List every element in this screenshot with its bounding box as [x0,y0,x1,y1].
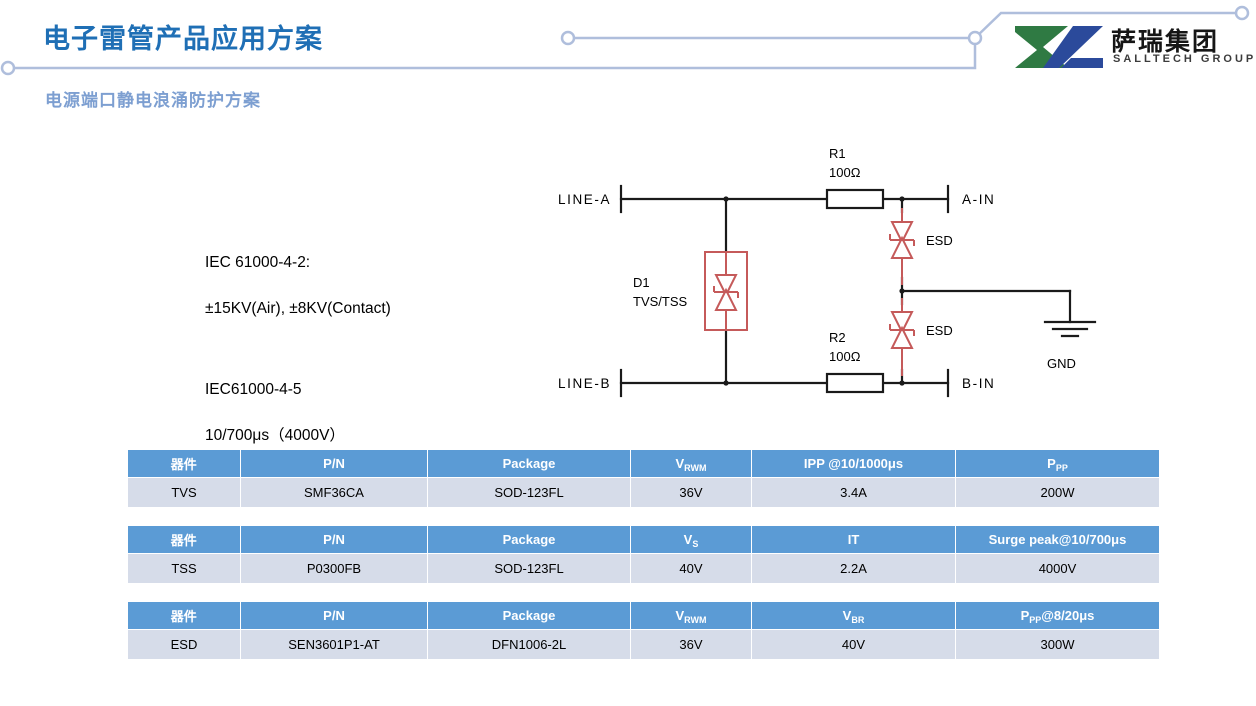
table-header-cell: 器件 [128,526,241,554]
gnd-label: GND [1047,356,1076,371]
tvs-table-grid: 器件 P/N Package VRWM IPP @10/1000μs PPP T… [127,449,1160,508]
table-cell: SOD-123FL [428,554,631,584]
table-cell: DFN1006-2L [428,630,631,660]
deco-circle-left [2,62,14,74]
b-in-label: B-IN [962,376,995,391]
table-cell: SOD-123FL [428,478,631,508]
r1-resistor-body [827,190,883,208]
page-title: 电子雷管产品应用方案 [43,17,323,56]
line-a-label: LINE-A [558,192,611,207]
deco-circle-right [1236,7,1248,19]
company-logo: 萨瑞集团 SALLTECH GROUP [1013,24,1245,74]
table-header-cell: VBR [752,602,956,630]
junction-d1-bottom [723,380,728,385]
table-header-cell: Package [428,526,631,554]
table-header-cell: VS [631,526,752,554]
spec-line-1: IEC 61000-4-2: [205,251,391,274]
table-header-cell: Package [428,450,631,478]
d1-type-label: TVS/TSS [633,294,688,309]
spec-line-3: IEC61000-4-5 [205,378,391,401]
table-header-cell: P/N [241,602,428,630]
table-header-cell: 器件 [128,450,241,478]
table-cell: 2.2A [752,554,956,584]
table-cell: 200W [956,478,1160,508]
esd-upper-symbol [890,208,914,285]
table-header-cell: PPP [956,450,1160,478]
table-header-cell: P/N [241,450,428,478]
table-cell: TVS [128,478,241,508]
esd-upper-label: ESD [926,233,953,248]
table-header-row: 器件 P/N Package VRWM VBR PPP@8/20μs [128,602,1160,630]
table-header-cell: 器件 [128,602,241,630]
spec-line-4: 10/700μs（4000V） [205,424,391,447]
table-cell: 36V [631,478,752,508]
tss-table: 器件 P/N Package VS IT Surge peak@10/700μs… [127,525,1159,584]
spec-line-2: ±15KV(Air), ±8KV(Contact) [205,297,391,320]
table-header-cell: P/N [241,526,428,554]
table-cell: 4000V [956,554,1160,584]
deco-circle-junction [969,32,981,44]
table-header-cell: VRWM [631,602,752,630]
table-row: TVS SMF36CA SOD-123FL 36V 3.4A 200W [128,478,1160,508]
junction-dots [723,196,904,385]
line-b-label: LINE-B [558,376,611,391]
table-cell: TSS [128,554,241,584]
table-header-cell: PPP@8/20μs [956,602,1160,630]
a-in-label: A-IN [962,192,995,207]
junction-ground [899,288,904,293]
junction-esd-top [899,196,904,201]
table-cell: 3.4A [752,478,956,508]
junction-esd-bottom [899,380,904,385]
table-row: ESD SEN3601P1-AT DFN1006-2L 36V 40V 300W [128,630,1160,660]
table-cell: 40V [752,630,956,660]
table-header-cell: IPP @10/1000μs [752,450,956,478]
table-cell: P0300FB [241,554,428,584]
spec-note: IEC 61000-4-2: ±15KV(Air), ±8KV(Contact)… [205,228,391,470]
r2-value-label: 100Ω [829,349,861,364]
table-cell: SEN3601P1-AT [241,630,428,660]
table-cell: ESD [128,630,241,660]
esd-table-grid: 器件 P/N Package VRWM VBR PPP@8/20μs ESD S… [127,601,1160,660]
circuit-diagram: LINE-A LINE-B A-IN B-IN GND R1 100Ω R2 1… [540,140,1120,420]
table-cell: 40V [631,554,752,584]
table-row: TSS P0300FB SOD-123FL 40V 2.2A 4000V [128,554,1160,584]
slide: 电子雷管产品应用方案 电源端口静电浪涌防护方案 萨瑞集团 SALLTECH GR… [0,0,1256,706]
table-cell: 36V [631,630,752,660]
table-header-row: 器件 P/N Package VS IT Surge peak@10/700μs [128,526,1160,554]
page-subtitle: 电源端口静电浪涌防护方案 [45,86,261,111]
r1-value-label: 100Ω [829,165,861,180]
esd-table: 器件 P/N Package VRWM VBR PPP@8/20μs ESD S… [127,601,1159,660]
junction-d1-top [723,196,728,201]
r1-name-label: R1 [829,146,846,161]
r2-resistor-body [827,374,883,392]
table-header-cell: IT [752,526,956,554]
logo-mark-icon [1013,24,1105,70]
d1-name-label: D1 [633,275,650,290]
table-header-cell: Package [428,602,631,630]
table-header-cell: Surge peak@10/700μs [956,526,1160,554]
table-cell: SMF36CA [241,478,428,508]
spec-gap [205,343,391,355]
esd-lower-symbol [890,298,914,376]
esd-lower-label: ESD [926,323,953,338]
r2-name-label: R2 [829,330,846,345]
table-cell: 300W [956,630,1160,660]
logo-english-name: SALLTECH GROUP [1113,53,1256,65]
tss-table-grid: 器件 P/N Package VS IT Surge peak@10/700μs… [127,525,1160,584]
deco-circle-middle [562,32,574,44]
tvs-table: 器件 P/N Package VRWM IPP @10/1000μs PPP T… [127,449,1159,508]
table-header-cell: VRWM [631,450,752,478]
d1-tvs-tss-symbol [705,252,747,330]
table-header-row: 器件 P/N Package VRWM IPP @10/1000μs PPP [128,450,1160,478]
